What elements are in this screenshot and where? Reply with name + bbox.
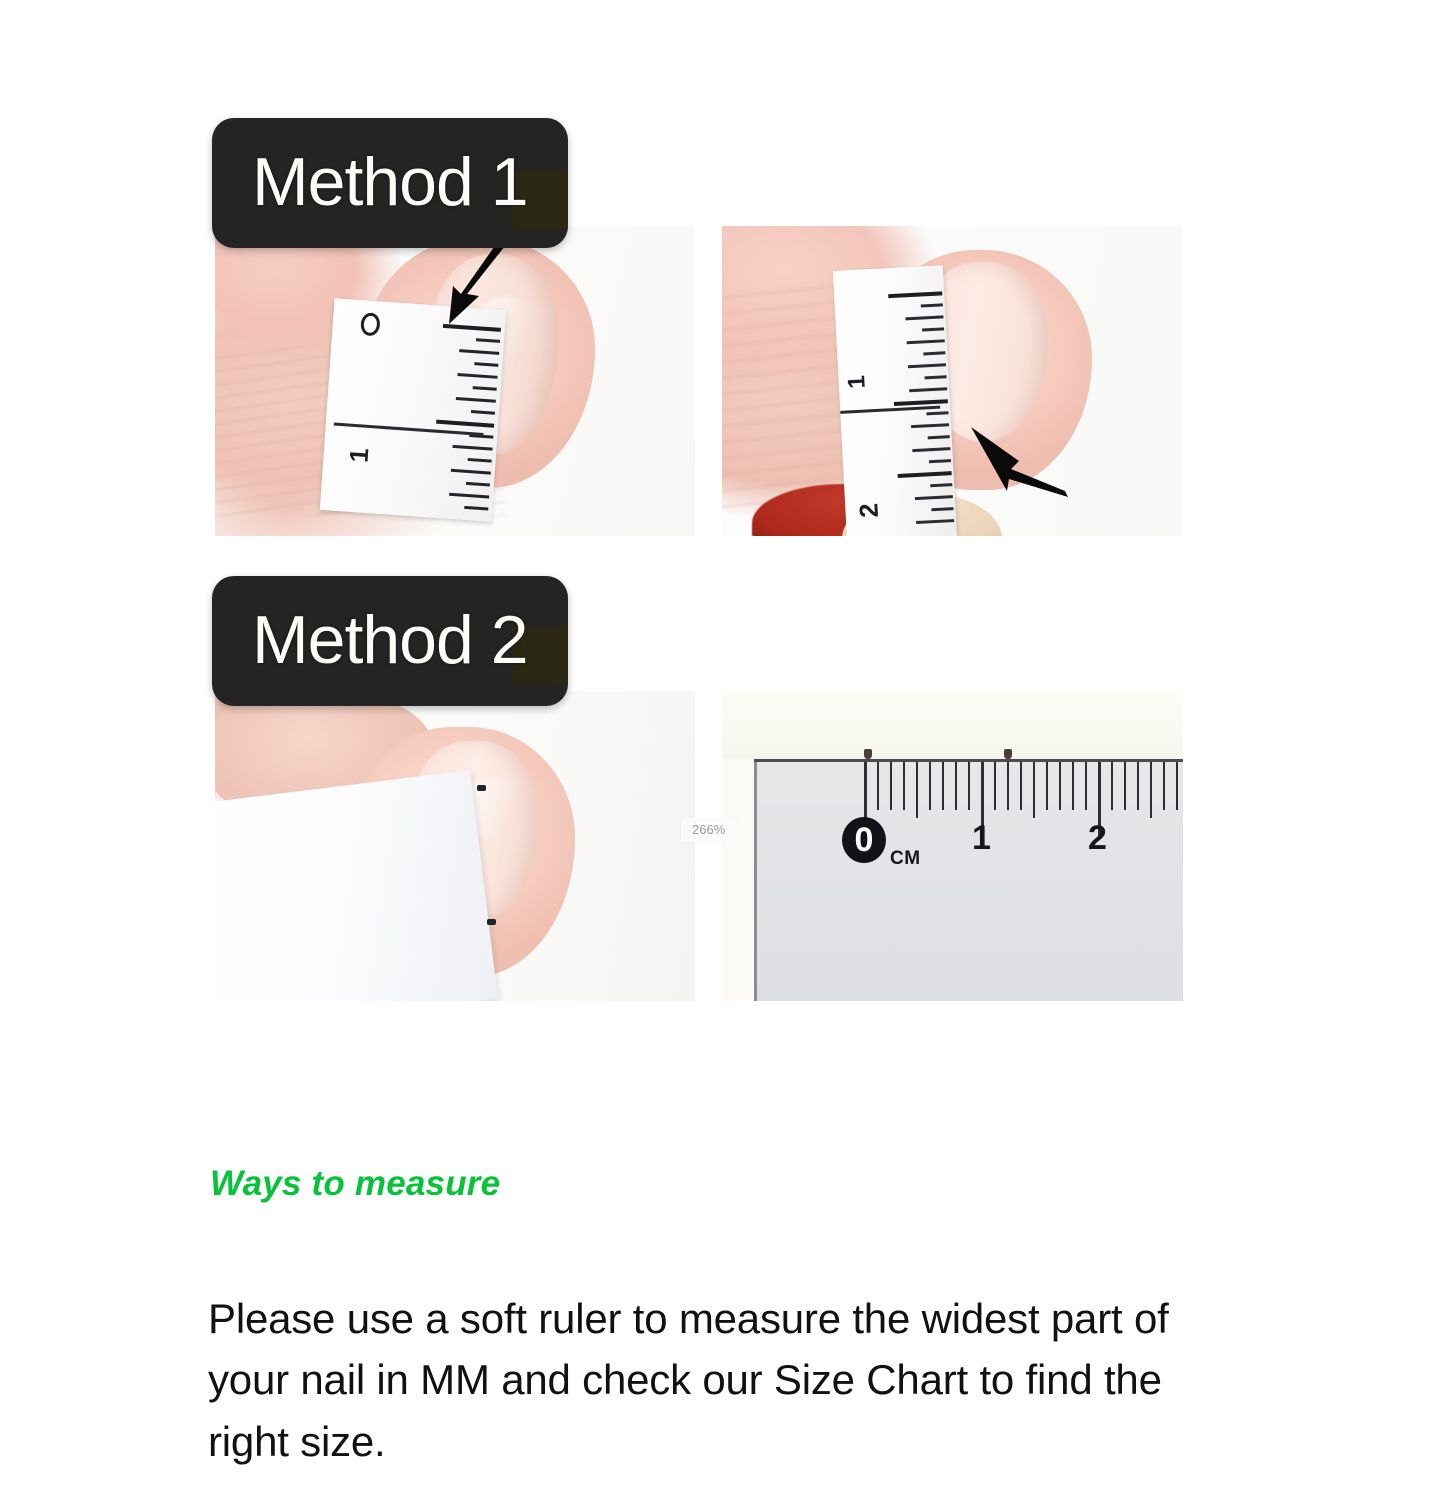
photo-method2-right: 0 CM 1 2 3 [722,691,1183,1001]
ruler-label-0: 0 [842,817,886,863]
method-2-photo-row: 0 CM 1 2 3 [215,691,1183,1001]
paper-mark-left [477,785,486,791]
ways-to-measure-heading: Ways to measure [210,1163,500,1205]
tape-measure: 1 2 [833,265,957,536]
measure-dot-start [864,749,872,759]
tape-measure: 1 [320,298,506,521]
pointer-arrow-icon [967,421,1072,499]
tape-label-1: 1 [345,447,372,463]
method-2-badge: 尺子 Method 2 [212,576,568,706]
tape-label-1: 1 [845,375,870,390]
photo-method1-right: 1 2 [722,226,1183,536]
zoom-level-badge: 266% [681,818,736,842]
ruler-label-1: 1 [972,821,991,855]
ruler-label-2: 2 [1088,821,1107,855]
tape-zero-mark [360,312,381,337]
ruler-number-labels: 0 CM 1 2 3 [754,821,1183,881]
pointer-arrow-icon [443,236,513,328]
method-1-photo-row: 1 [215,226,1183,536]
photo-method2-left [215,691,695,1001]
method-1-badge: 测量 Method 1 [212,118,568,248]
table-surface [722,691,1183,759]
page-root: 1 [0,0,1445,1487]
ruler-unit-label: CM [890,849,921,868]
paper-mark-right [487,919,496,925]
measure-instructions-paragraph: Please use a soft ruler to measure the w… [208,1288,1243,1472]
photo-method1-left: 1 [215,226,695,536]
paper-strip [215,770,498,1001]
method-2-label: Method 2 [212,576,568,706]
tape-label-2: 2 [855,503,882,519]
method-1-label: Method 1 [212,118,568,248]
measure-dot-end [1004,749,1012,759]
